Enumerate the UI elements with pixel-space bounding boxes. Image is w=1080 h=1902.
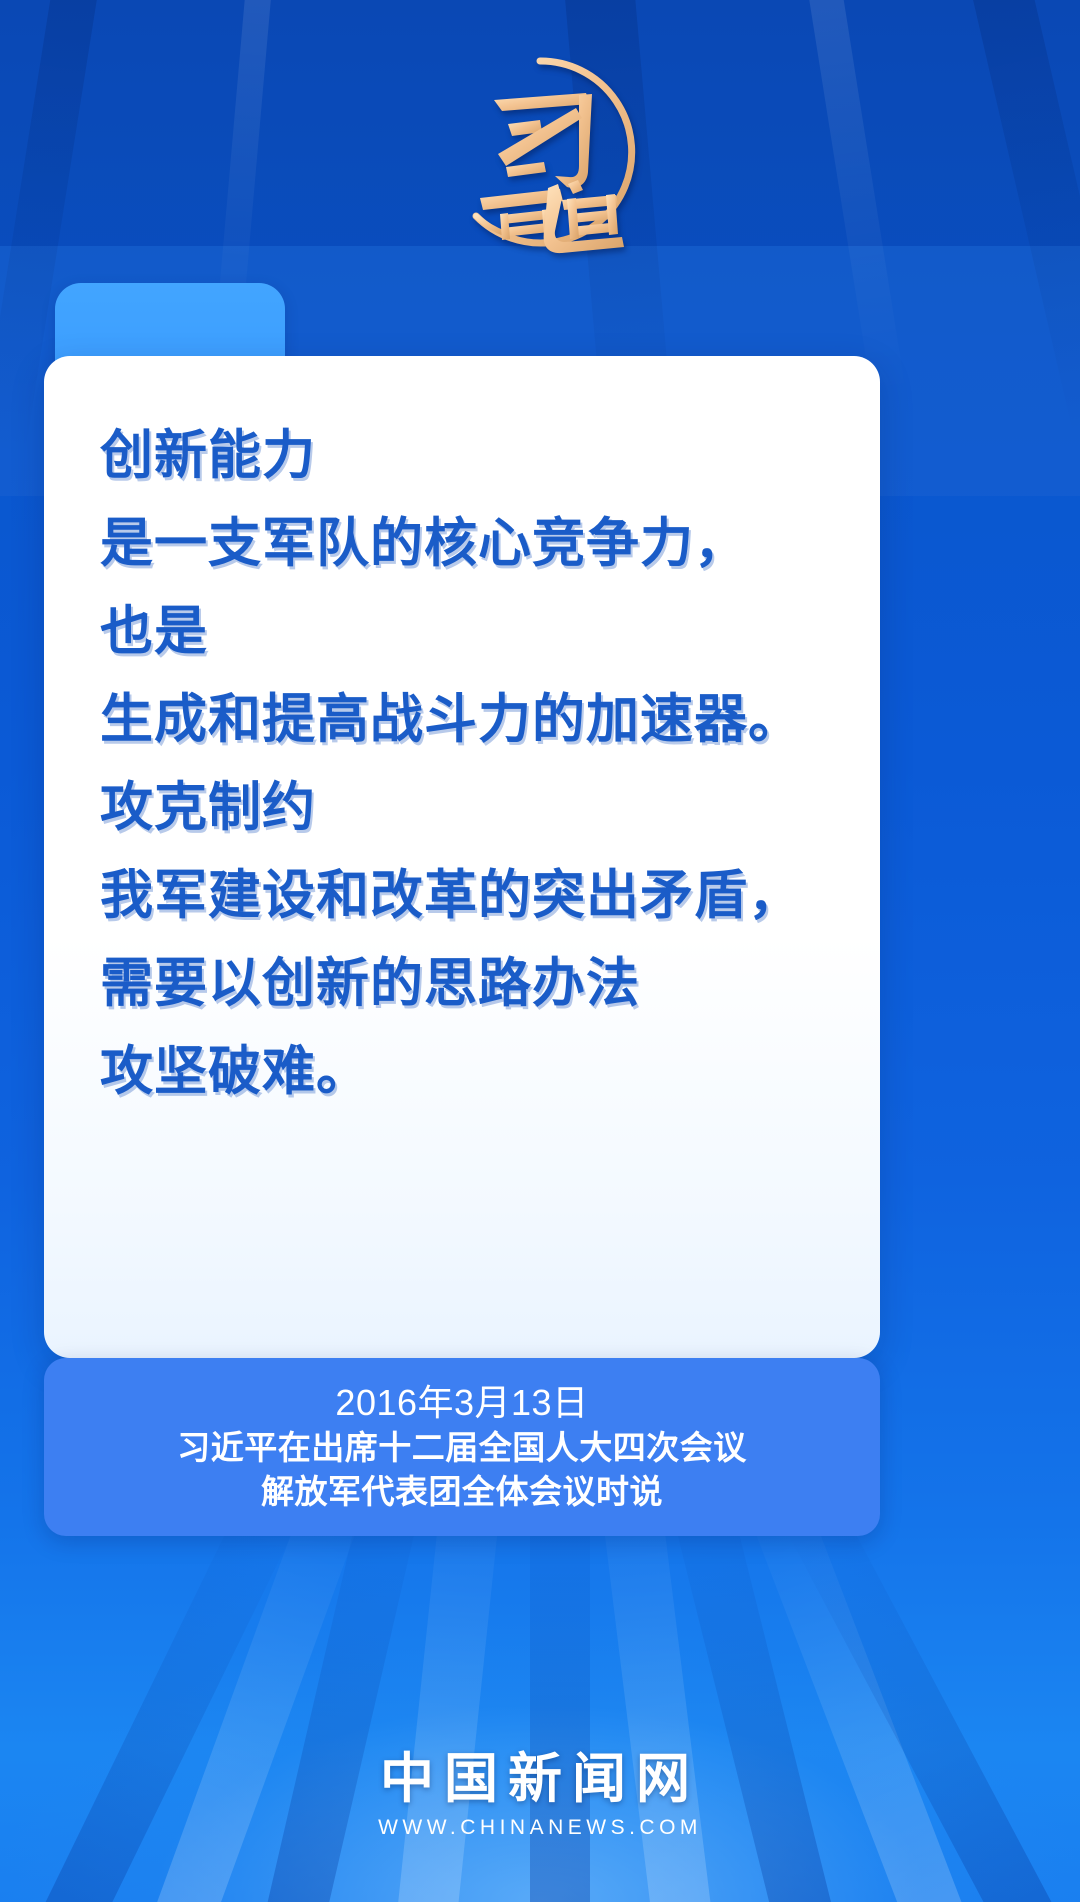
xi-yan-dao-seal-icon: 习言道 <box>436 48 644 256</box>
poster-canvas: 习言道 创新能力 是一支军队的核心竞争力， 也是 生成和提高战斗力的加速器。 攻… <box>0 0 1080 1902</box>
quote-line-5: 攻克制约 <box>100 764 846 852</box>
quote-line-2: 是一支军队的核心竞争力， <box>100 500 846 588</box>
source-caption-box: 2016年3月13日 习近平在出席十二届全国人大四次会议 解放军代表团全体会议时… <box>44 1358 880 1536</box>
caption-line-2: 解放军代表团全体会议时说 <box>261 1470 663 1514</box>
quote-line-8: 攻坚破难。 <box>100 1028 846 1116</box>
caption-date: 2016年3月13日 <box>335 1380 588 1426</box>
quote-line-4: 生成和提高战斗力的加速器。 <box>100 676 846 764</box>
chinanews-url: WWW.CHINANEWS.COM <box>378 1816 702 1840</box>
footer-branding: 中国新闻网 WWW.CHINANEWS.COM <box>0 1746 1080 1840</box>
quote-block: 创新能力 是一支军队的核心竞争力， 也是 生成和提高战斗力的加速器。 攻克制约 … <box>100 412 846 1116</box>
caption-line-1: 习近平在出席十二届全国人大四次会议 <box>177 1426 747 1470</box>
quote-line-6: 我军建设和改革的突出矛盾， <box>100 852 846 940</box>
brand-logo: 习言道 <box>0 46 1080 258</box>
quote-line-1: 创新能力 <box>100 412 846 500</box>
chinanews-logo-text: 中国新闻网 <box>380 1746 700 1812</box>
quote-line-7: 需要以创新的思路办法 <box>100 940 846 1028</box>
quote-card: 创新能力 是一支军队的核心竞争力， 也是 生成和提高战斗力的加速器。 攻克制约 … <box>44 356 880 1358</box>
quote-line-3: 也是 <box>100 588 846 676</box>
